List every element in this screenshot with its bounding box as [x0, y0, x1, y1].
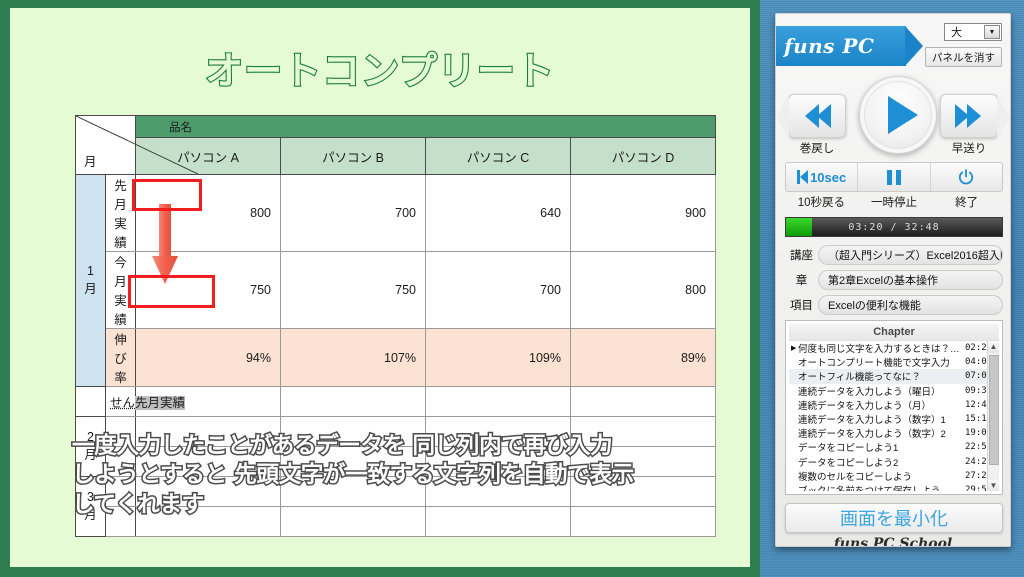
chapter-item-title: データをコピーしよう1: [798, 440, 965, 454]
exit-button[interactable]: [931, 163, 1002, 191]
chapter-item-title: 連続データを入力しよう（曜日）: [798, 384, 965, 398]
data-cell[interactable]: 800: [571, 252, 716, 329]
footer-brand: funs PC School: [776, 536, 1010, 547]
autocomplete-typed-text: せん: [110, 396, 135, 410]
chapter-item-title: 連続データを入力しよう（月）: [798, 398, 965, 412]
rewind-button[interactable]: [788, 94, 846, 138]
fast-forward-label: 早送り: [938, 140, 1000, 156]
chapter-key: 章: [785, 272, 818, 288]
page-title: オートコンプリート: [10, 40, 750, 95]
chapter-list[interactable]: ▶何度も同じ文字を入力するときは？（…02:27オートコンプリート機能で文字入力…: [789, 340, 999, 491]
back-10sec-button[interactable]: 10sec: [786, 163, 858, 191]
secondary-controls: 10sec: [785, 162, 1003, 192]
secondary-control-labels: 10秒戻る 一時停止 終了: [785, 194, 1003, 210]
down-arrow-icon: [152, 204, 178, 284]
exit-label: 終了: [930, 194, 1003, 210]
rewind-label: 巻戻し: [786, 140, 848, 156]
back-10sec-label: 10秒戻る: [785, 194, 858, 210]
caption-line-1: 一度入力したことがあるデータを 同じ列内で再び入力: [72, 432, 712, 461]
font-size-select[interactable]: 大 ▼: [944, 23, 1002, 41]
course-value[interactable]: （超入門シリーズ）Excel2016超入門講座: [818, 245, 1003, 265]
seek-bar[interactable]: 03:20 / 32:48: [785, 217, 1003, 237]
course-key: 講座: [785, 247, 818, 263]
caption-line-2: しようとすると 先頭文字が一致する文字列を自動で表示: [72, 461, 712, 490]
chevron-down-icon[interactable]: ▼: [984, 25, 1000, 39]
product-header-b: パソコン B: [281, 138, 426, 175]
chapter-item[interactable]: 連続データを入力しよう（数字）115:10: [789, 412, 999, 426]
player-panel: funs PC 大 ▼ パネルを消す 巻戻し 早送り 10sec: [775, 13, 1011, 547]
chapter-item[interactable]: ▶何度も同じ文字を入力するときは？（…02:27: [789, 341, 999, 355]
chapter-item[interactable]: 連続データを入力しよう（数字）219:03: [789, 426, 999, 440]
data-cell[interactable]: 750: [281, 252, 426, 329]
chapter-item-title: 何度も同じ文字を入力するときは？（…: [798, 341, 965, 355]
skip-back-icon: [797, 170, 808, 184]
data-cell[interactable]: 640: [426, 175, 571, 252]
current-chapter-marker-icon: ▶: [791, 344, 798, 352]
item-row: 項目 Excelの便利な機能: [785, 295, 1003, 315]
data-cell[interactable]: 700: [426, 252, 571, 329]
rewind-icon: [805, 104, 829, 128]
play-icon: [888, 96, 918, 134]
chapter-item-title: 連続データを入力しよう（数字）1: [798, 412, 965, 426]
chapter-row: 章 第2章Excelの基本操作: [785, 270, 1003, 290]
data-cell[interactable]: 89%: [571, 329, 716, 387]
data-cell[interactable]: 94%: [136, 329, 281, 387]
brand-label: funs PC: [784, 34, 874, 58]
slide-canvas: オートコンプリート 品名月パソコン Aパソコン Bパソコン Cパソコン D1月先…: [10, 8, 750, 567]
month-cell-empty: [76, 387, 106, 417]
table-corner-cell: 品名月: [76, 116, 136, 175]
chapter-item[interactable]: ブックに名前をつけて保存しよう29:54: [789, 483, 999, 491]
pause-button[interactable]: [858, 163, 930, 191]
play-button[interactable]: [859, 76, 937, 154]
hide-panel-button[interactable]: パネルを消す: [925, 47, 1002, 67]
corner-column-label: 品名: [169, 119, 192, 135]
caption-text: 一度入力したことがあるデータを 同じ列内で再び入力 しようとすると 先頭文字が一…: [72, 432, 712, 520]
autocomplete-suggestion-text: 先月実績: [135, 396, 185, 410]
chapter-item[interactable]: オートコンプリート機能で文字入力04:00: [789, 355, 999, 369]
data-cell[interactable]: [426, 387, 571, 417]
pause-label: 一時停止: [858, 194, 931, 210]
chapter-scrollbar[interactable]: ▲ ▼: [987, 341, 999, 491]
pause-icon-bar-right: [896, 170, 901, 185]
chapter-item-title: 連続データを入力しよう（数字）2: [798, 426, 965, 440]
row-label-cell[interactable]: 伸び率: [106, 329, 136, 387]
product-header-c: パソコン C: [426, 138, 571, 175]
scrollbar-thumb[interactable]: [989, 355, 999, 465]
chapter-item[interactable]: データをコピーしよう224:23: [789, 455, 999, 469]
row-label-cell[interactable]: 今月実績: [106, 252, 136, 329]
item-key: 項目: [785, 297, 818, 313]
chapter-item[interactable]: データをコピーしよう122:53: [789, 440, 999, 454]
data-cell[interactable]: 700: [281, 175, 426, 252]
course-row: 講座 （超入門シリーズ）Excel2016超入門講座: [785, 245, 1003, 265]
chapter-item-title: 複数のセルをコピーしよう: [798, 469, 965, 483]
fast-forward-button[interactable]: [940, 94, 998, 138]
row-label-cell[interactable]: 先月実績: [106, 175, 136, 252]
row-label-cell[interactable]: せん先月実績: [106, 387, 136, 417]
chapter-item-title: ブックに名前をつけて保存しよう: [798, 483, 965, 491]
chapter-item[interactable]: オートフィル機能ってなに？07:08: [789, 369, 999, 383]
chapter-list-header: Chapter: [789, 324, 999, 340]
product-header-d: パソコン D: [571, 138, 716, 175]
data-cell[interactable]: 107%: [281, 329, 426, 387]
chapter-item[interactable]: 複数のセルをコピーしよう27:28: [789, 469, 999, 483]
item-value[interactable]: Excelの便利な機能: [818, 295, 1003, 315]
month-cell: 1月: [76, 175, 106, 387]
chapter-item[interactable]: 連続データを入力しよう（月）12:47: [789, 398, 999, 412]
back-10sec-icon-label: 10sec: [810, 170, 846, 185]
caption-line-3: してくれます: [72, 491, 712, 520]
chapter-item-title: データをコピーしよう2: [798, 455, 965, 469]
corner-row-label: 月: [84, 151, 97, 170]
chapter-item[interactable]: 連続データを入力しよう（曜日）09:34: [789, 384, 999, 398]
minimize-button[interactable]: 画面を最小化: [785, 503, 1003, 533]
fast-forward-icon: [957, 104, 981, 128]
chapter-value[interactable]: 第2章Excelの基本操作: [818, 270, 1003, 290]
scroll-up-icon[interactable]: ▲: [988, 341, 999, 353]
chapter-item-title: オートフィル機能ってなに？: [798, 369, 965, 383]
table-row: せん先月実績: [76, 387, 716, 417]
slide-frame: オートコンプリート 品名月パソコン Aパソコン Bパソコン Cパソコン D1月先…: [0, 0, 760, 577]
time-display: 03:20 / 32:48: [786, 222, 1002, 233]
table-row: 伸び率94%107%109%89%: [76, 329, 716, 387]
table-header-band: [136, 116, 716, 138]
chapter-item-title: オートコンプリート機能で文字入力: [798, 355, 965, 369]
scroll-down-icon[interactable]: ▼: [988, 480, 999, 491]
font-size-value: 大: [951, 24, 962, 40]
data-cell[interactable]: [571, 387, 716, 417]
power-icon: [958, 169, 974, 185]
pause-icon-bar-left: [887, 170, 892, 185]
data-cell[interactable]: [281, 387, 426, 417]
chapter-list-box: Chapter ▶何度も同じ文字を入力するときは？（…02:27オートコンプリー…: [785, 320, 1003, 495]
data-cell[interactable]: 900: [571, 175, 716, 252]
brand-ribbon: funs PC: [775, 26, 906, 66]
data-cell[interactable]: 109%: [426, 329, 571, 387]
